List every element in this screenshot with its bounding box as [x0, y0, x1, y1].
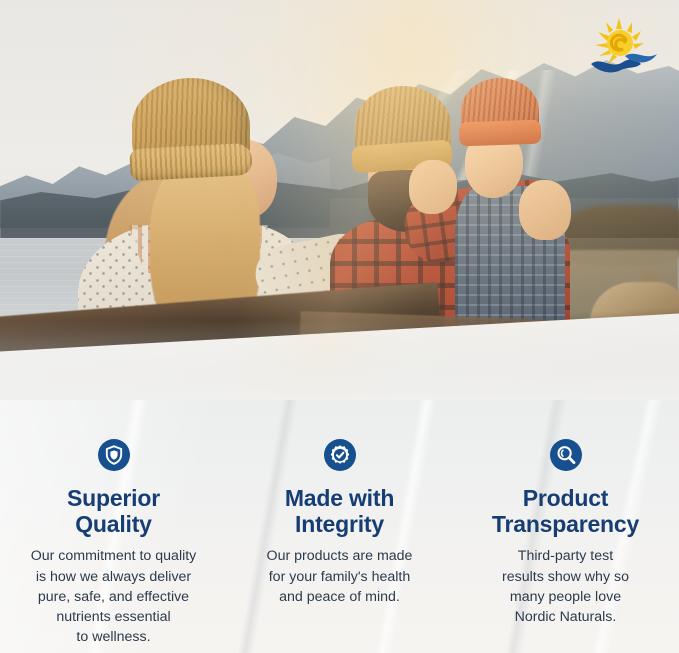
feature-body: Third-party test results show why so man… [502, 546, 629, 627]
wave-icon [591, 54, 657, 73]
feature-column-made-with-integrity: Made with Integrity Our products are mad… [227, 438, 453, 607]
woman-beanie-brim [129, 143, 253, 181]
features-panel: Superior Quality Our commitment to quali… [0, 400, 679, 653]
hero-photo [0, 0, 679, 452]
baby-beanie-brim [459, 120, 542, 147]
man-hand-left [409, 160, 457, 214]
magnifier-icon [549, 438, 583, 472]
product-feature-banner: Superior Quality Our commitment to quali… [0, 0, 679, 653]
nordic-naturals-sun-wave-logo [585, 12, 663, 78]
features-row: Superior Quality Our commitment to quali… [0, 438, 679, 647]
man-hand-right [519, 180, 571, 240]
feature-title: Made with Integrity [285, 485, 394, 537]
feature-title: Product Transparency [492, 485, 639, 537]
feature-body: Our products are made for your family's … [267, 546, 413, 606]
feature-title: Superior Quality [67, 485, 160, 537]
verified-seal-icon [323, 438, 357, 472]
feature-column-superior-quality: Superior Quality Our commitment to quali… [1, 438, 227, 647]
shield-icon [97, 438, 131, 472]
feature-column-product-transparency: Product Transparency Third-party test re… [453, 438, 679, 627]
feature-body: Our commitment to quality is how we alwa… [31, 546, 197, 647]
